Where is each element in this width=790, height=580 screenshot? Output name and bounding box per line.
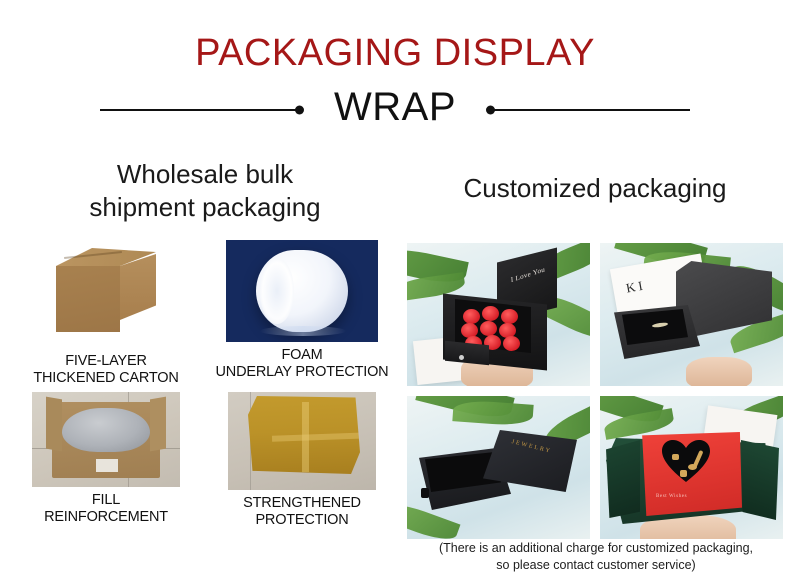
green-box-lid-left: [606, 440, 640, 518]
decorative-rule-left: [100, 109, 300, 111]
ki-brand-card-text: KI: [625, 277, 647, 296]
caption-line2: THICKENED CARTON: [33, 370, 178, 387]
page-subtitle: WRAP: [300, 87, 490, 127]
section-heading-bulk-line1: Wholesale bulk: [10, 158, 400, 191]
foam-photo: [226, 240, 378, 342]
section-heading-bulk-line2: shipment packaging: [10, 191, 400, 224]
open-carton-icon: [52, 402, 160, 478]
carton-box-icon: [56, 248, 156, 332]
bulk-item-fill: FILL REINFORCEMENT: [8, 392, 204, 540]
bulk-item-strengthened: STRENGTHENED PROTECTION: [204, 392, 400, 540]
custom-photo-rose-box: I Love You: [407, 243, 590, 386]
custom-photo-heart-box: Best Wishes: [600, 396, 783, 539]
subtitle-row: WRAP: [0, 90, 790, 130]
custom-photo-jewelry-box: JEWELRY: [407, 396, 590, 539]
caption-line1: FOAM: [216, 347, 389, 364]
bulk-item-foam-caption: FOAM UNDERLAY PROTECTION: [216, 347, 389, 381]
caption-line2: PROTECTION: [243, 512, 361, 529]
bulk-item-strengthened-caption: STRENGTHENED PROTECTION: [243, 495, 361, 529]
decorative-rule-right: [490, 109, 690, 111]
note-line1: (There is an additional charge for custo…: [405, 540, 787, 557]
bulk-packaging-grid: FIVE-LAYER THICKENED CARTON FOAM UNDERLA…: [8, 240, 400, 540]
caption-line1: FILL: [44, 492, 168, 509]
taped-carton-icon: [248, 396, 360, 474]
carton-photo: [40, 240, 172, 348]
custom-photo-drawer-box: KI: [600, 243, 783, 386]
note-line2: so please contact customer service): [405, 557, 787, 574]
red-insert-text: Best Wishes: [656, 494, 687, 499]
green-box-lid-right: [741, 440, 779, 520]
fill-photo: [32, 392, 180, 487]
bulk-item-carton: FIVE-LAYER THICKENED CARTON: [8, 240, 204, 392]
section-heading-bulk: Wholesale bulk shipment packaging: [10, 158, 400, 223]
page-title: PACKAGING DISPLAY: [0, 32, 790, 75]
caption-line1: FIVE-LAYER: [33, 353, 178, 370]
caption-line2: UNDERLAY PROTECTION: [216, 364, 389, 381]
rule-dot-right-icon: [486, 106, 495, 115]
caption-line2: REINFORCEMENT: [44, 509, 168, 526]
bulk-item-carton-caption: FIVE-LAYER THICKENED CARTON: [33, 353, 178, 387]
bubble-wrap-icon: [62, 408, 150, 452]
strengthened-photo: [228, 392, 376, 490]
customized-packaging-grid: I Love You KI: [407, 243, 783, 537]
bulk-item-foam: FOAM UNDERLAY PROTECTION: [204, 240, 400, 392]
bulk-item-fill-caption: FILL REINFORCEMENT: [44, 492, 168, 526]
rose-box-lid-text: I Love You: [505, 264, 552, 288]
foam-roll-icon: [256, 250, 348, 332]
caption-line1: STRENGTHENED: [243, 495, 361, 512]
foam-highlight: [260, 326, 346, 336]
packaging-display-banner: PACKAGING DISPLAY WRAP Wholesale bulk sh…: [0, 0, 790, 580]
customized-packaging-note: (There is an additional charge for custo…: [405, 540, 787, 574]
section-heading-customized: Customized packaging: [405, 172, 785, 205]
